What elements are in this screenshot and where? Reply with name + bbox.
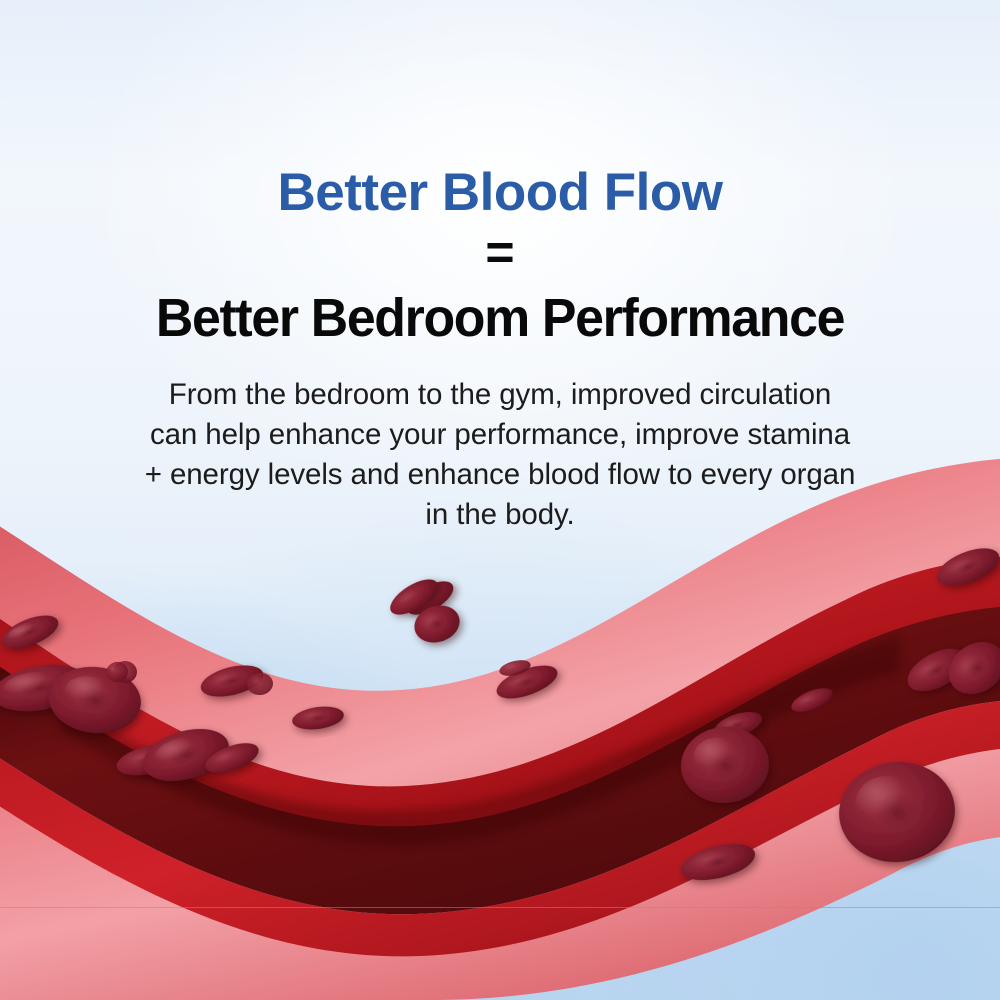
headline-primary: Better Blood Flow <box>0 0 1000 219</box>
equals-symbol: = <box>0 219 1000 277</box>
poster-canvas: Better Blood Flow = Better Bedroom Perfo… <box>0 0 1000 1000</box>
text-block: Better Blood Flow = Better Bedroom Perfo… <box>0 0 1000 535</box>
headline-secondary: Better Bedroom Performance <box>20 277 980 345</box>
body-line: + energy levels and enhance blood flow t… <box>80 455 920 495</box>
hairline-divider <box>0 907 1000 908</box>
body-paragraph: From the bedroom to the gym, improved ci… <box>80 345 920 535</box>
body-line: in the body. <box>80 495 920 535</box>
body-line: can help enhance your performance, impro… <box>80 415 920 455</box>
body-line: From the bedroom to the gym, improved ci… <box>80 375 920 415</box>
